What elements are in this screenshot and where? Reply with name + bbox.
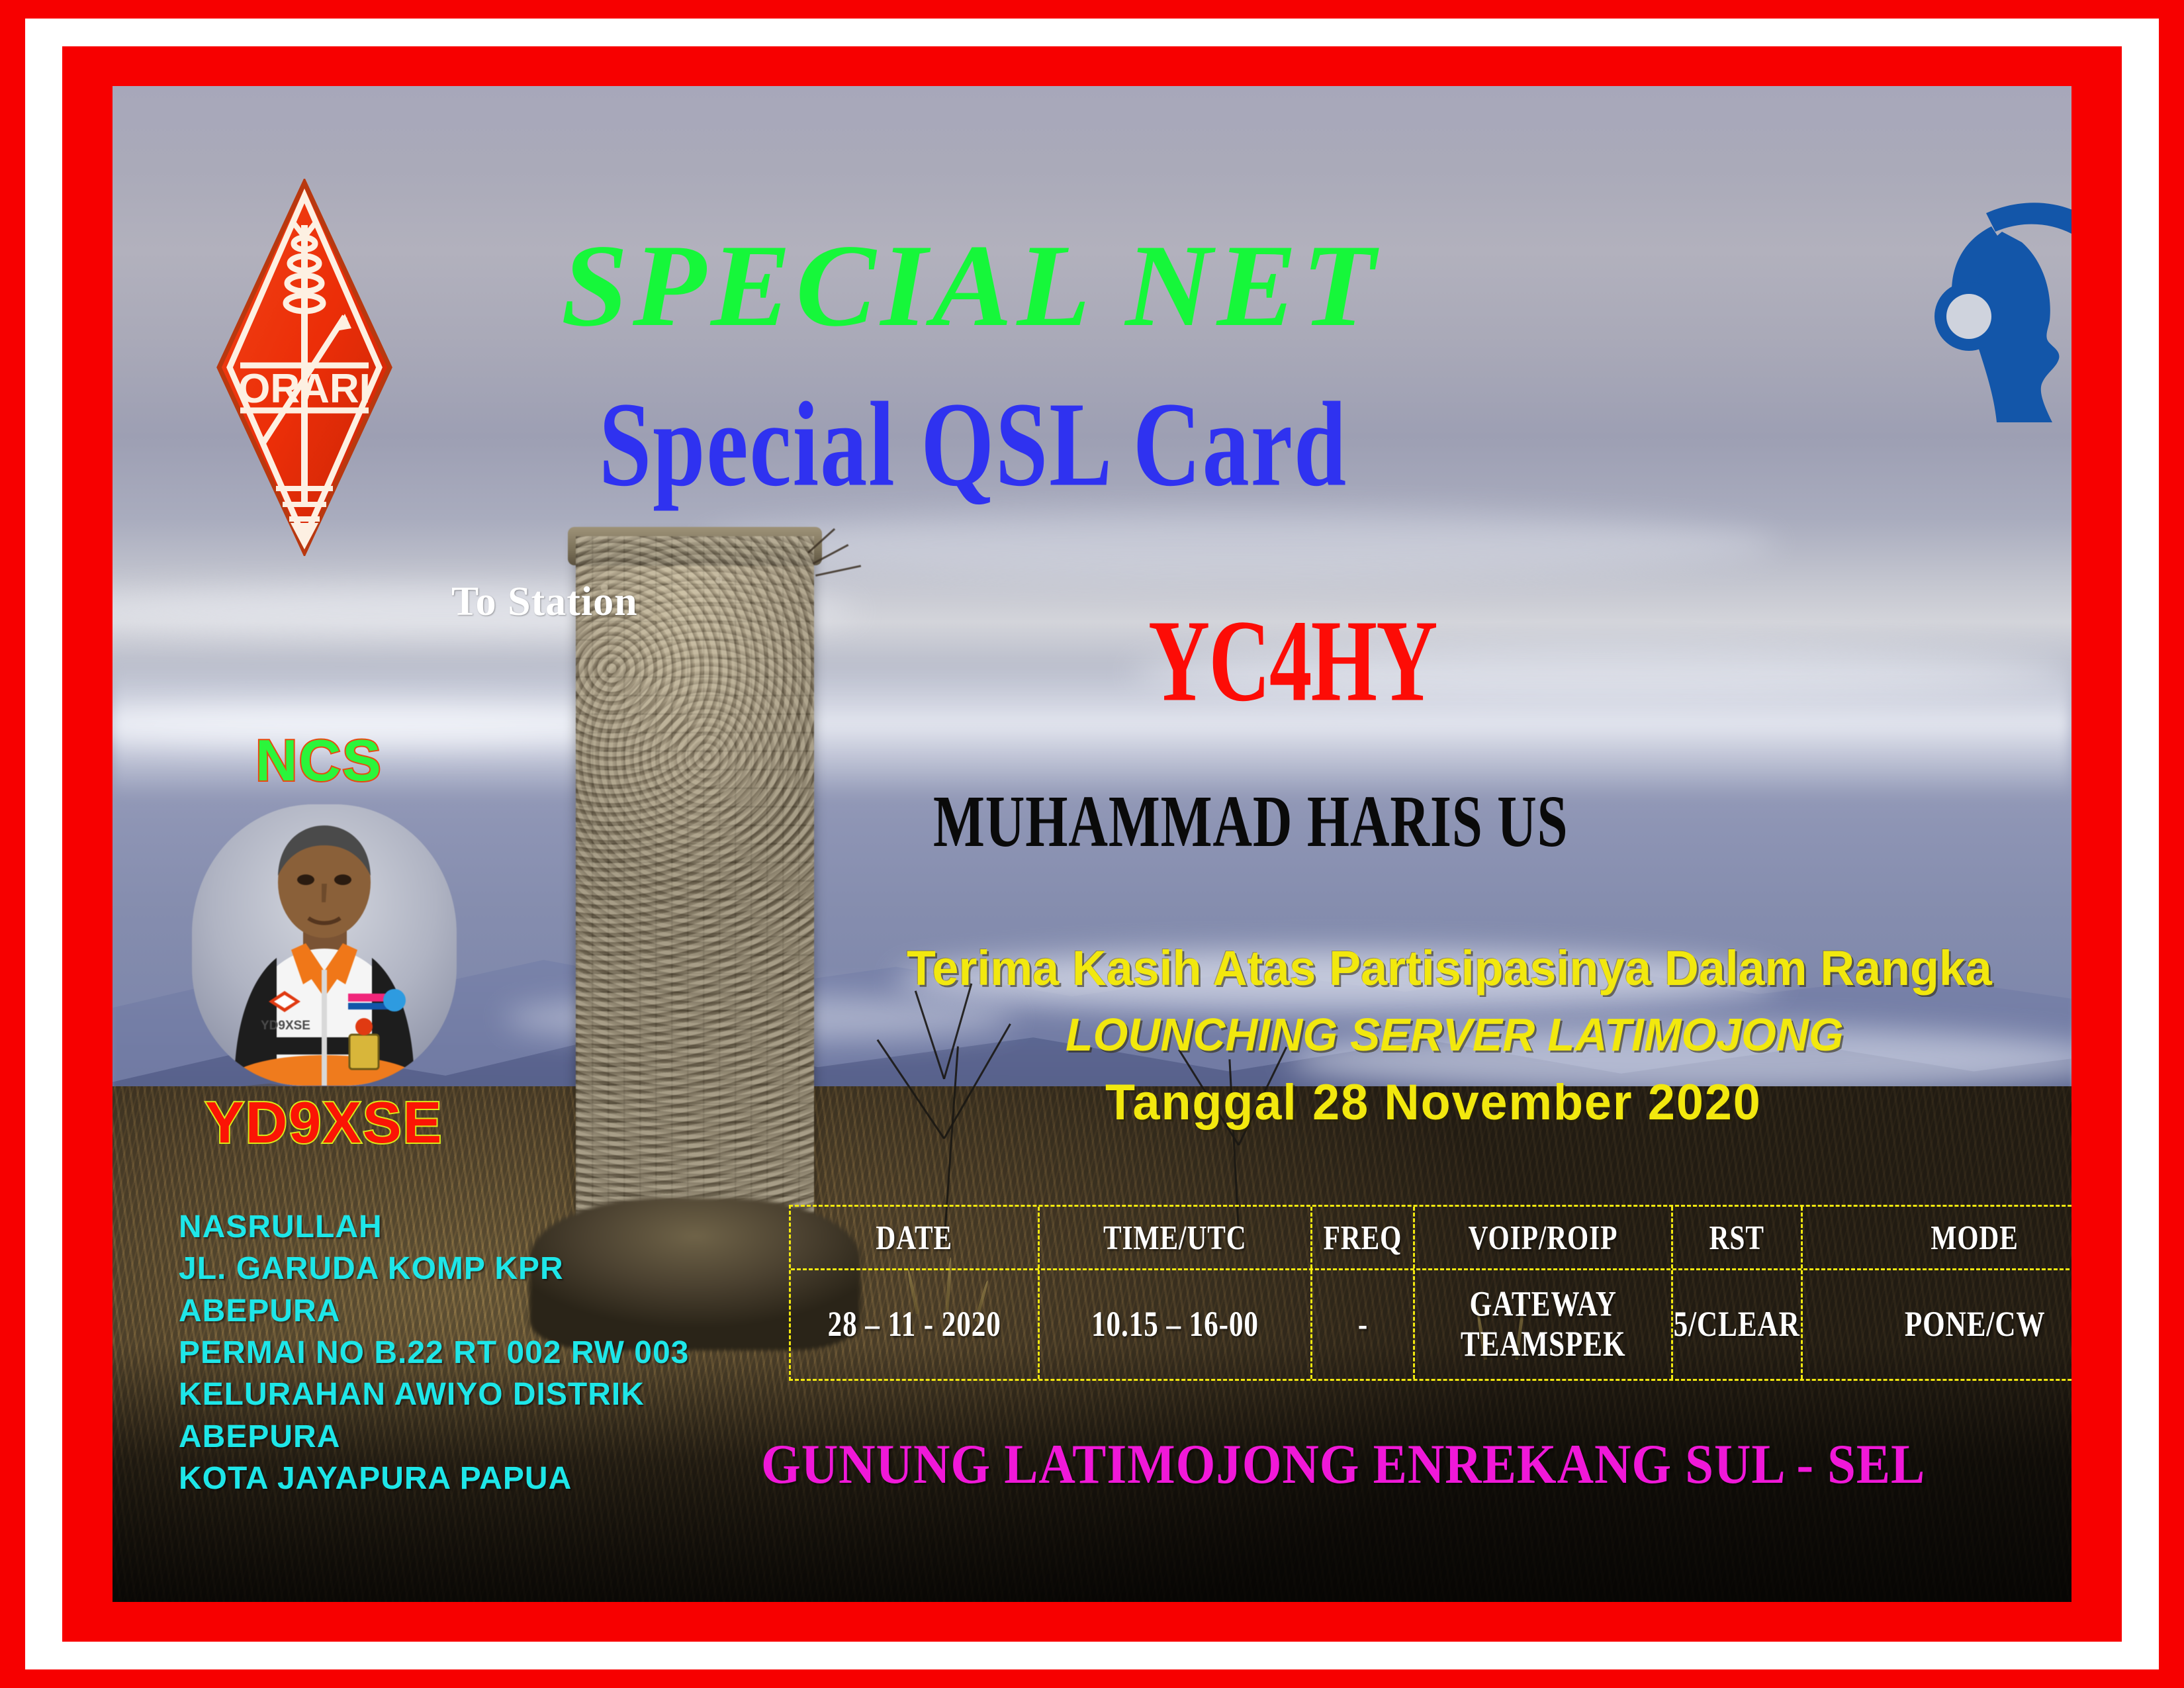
- net-headset-logo: [1923, 185, 2071, 450]
- qso-cell-voip-line1: GATEWAY: [1469, 1285, 1616, 1324]
- qso-cell-freq: -: [1312, 1270, 1415, 1379]
- cloud-streak-2: [700, 510, 1778, 579]
- qso-cell-rst: 5/CLEAR: [1673, 1270, 1803, 1379]
- qso-cell-voip-line2: TEAMSPEK: [1461, 1325, 1626, 1364]
- thanks-line-2: LOUNCHING SERVER LATIMOJONG: [1066, 1011, 1844, 1058]
- ncs-role-label: NCS: [255, 731, 383, 790]
- orari-wordmark: ORARI: [238, 366, 371, 412]
- qso-header-voip: VOIP/ROIP: [1415, 1207, 1673, 1268]
- recipient-operator-name: MUHAMMAD HARIS US: [933, 784, 1568, 858]
- headset-face-waves-icon: [1923, 185, 2071, 450]
- qso-cell-voip: GATEWAY TEAMSPEK: [1415, 1270, 1673, 1379]
- address-line: KOTA JAYAPURA PAPUA: [179, 1458, 689, 1499]
- thanks-line-3: Tanggal 28 November 2020: [1105, 1078, 1762, 1128]
- qso-cell-time: 10.15 – 16-00: [1040, 1270, 1312, 1379]
- address-line: JL. GARUDA KOMP KPR: [179, 1248, 689, 1289]
- qsl-card-outer-frame: ORARI: [0, 0, 2184, 1688]
- ncs-callsign: YD9XSE: [205, 1094, 443, 1152]
- card-title-special-net: SPECIAL NET: [561, 226, 1380, 344]
- orari-diamond-icon: ORARI: [215, 179, 394, 556]
- address-line: ABEPURA: [179, 1290, 689, 1332]
- qso-table-header-row: DATE TIME/UTC FREQ VOIP/ROIP RST MODE: [791, 1207, 2071, 1270]
- qso-table-row: 28 – 11 - 2020 10.15 – 16-00 - GATEWAY T…: [791, 1270, 2071, 1379]
- card-title-special-qsl: Special QSL Card: [599, 384, 1347, 505]
- recipient-callsign: YC4HY: [1148, 602, 1437, 720]
- operator-portrait-illustration: YD9XSE: [192, 804, 457, 1086]
- qsl-card-white-gap: ORARI: [25, 19, 2159, 1669]
- qsl-card-photo-background: ORARI: [113, 86, 2071, 1602]
- qso-header-time: TIME/UTC: [1040, 1207, 1312, 1268]
- monument-stone-texture: [576, 536, 814, 1271]
- stone-monument: [576, 536, 814, 1271]
- to-station-label: To Station: [451, 579, 638, 626]
- qso-header-mode: MODE: [1803, 1207, 2071, 1268]
- address-line: NASRULLAH: [179, 1206, 689, 1248]
- qso-header-date: DATE: [791, 1207, 1040, 1268]
- address-line: KELURAHAN AWIYO DISTRIK: [179, 1374, 689, 1415]
- mountain-location-label: GUNUNG LATIMOJONG ENREKANG SUL - SEL: [761, 1436, 1925, 1493]
- address-line: PERMAI NO B.22 RT 002 RW 003: [179, 1332, 689, 1374]
- qso-cell-mode: PONE/CW: [1803, 1270, 2071, 1379]
- qso-log-table: DATE TIME/UTC FREQ VOIP/ROIP RST MODE 28…: [789, 1205, 2071, 1381]
- thanks-line-1: Terima Kasih Atas Partisipasinya Dalam R…: [907, 944, 1992, 993]
- qso-header-rst: RST: [1673, 1207, 1803, 1268]
- orari-logo: ORARI: [215, 179, 394, 556]
- uniform-callsign-text: YD9XSE: [261, 1019, 310, 1033]
- qsl-card-inner-frame: ORARI: [62, 46, 2122, 1642]
- ncs-address-block: NASRULLAH JL. GARUDA KOMP KPR ABEPURA PE…: [179, 1206, 689, 1500]
- qso-cell-date: 28 – 11 - 2020: [791, 1270, 1040, 1379]
- address-line: ABEPURA: [179, 1416, 689, 1458]
- horizon-haze: [113, 662, 2071, 798]
- ncs-operator-photo: YD9XSE: [192, 804, 457, 1086]
- qso-header-freq: FREQ: [1312, 1207, 1415, 1268]
